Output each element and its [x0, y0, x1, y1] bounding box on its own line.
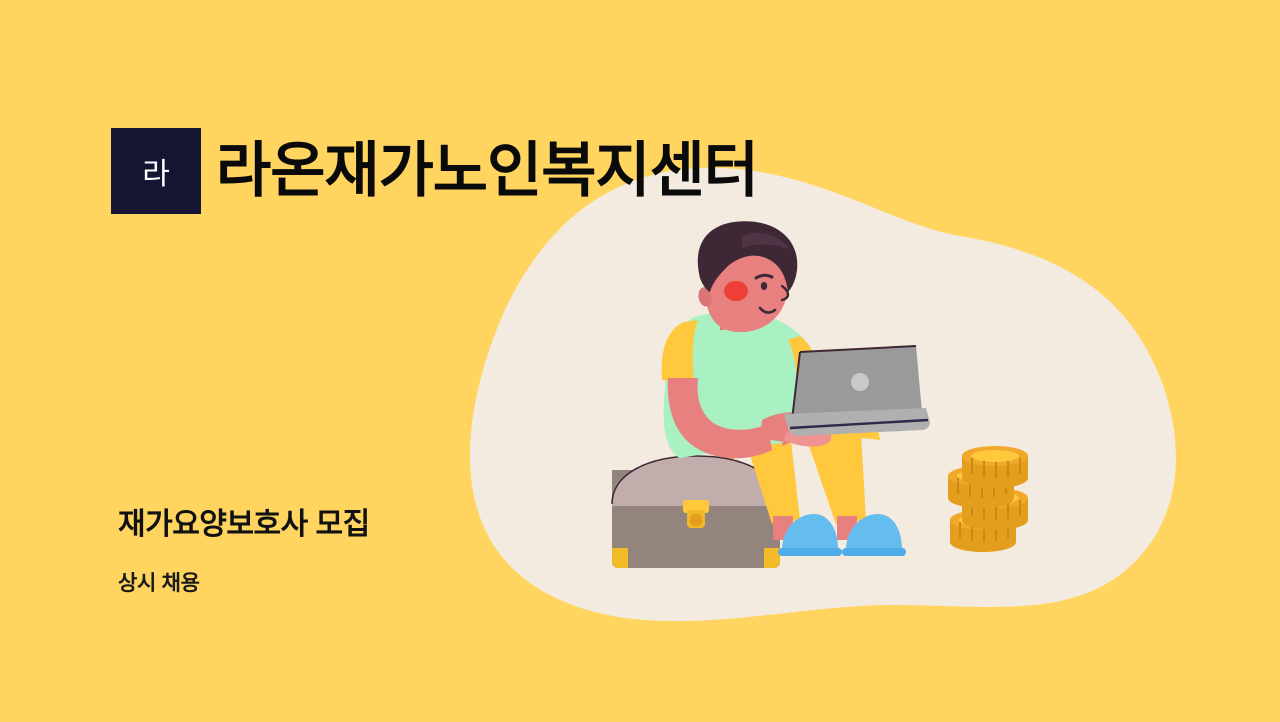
job-position-title: 재가요양보호사 모집 — [118, 505, 548, 545]
laptop-icon — [784, 346, 930, 436]
job-recruitment-banner: 라 라온재가노인복지센터 재가요양보호사 모집 상시 채용 — [0, 0, 1280, 722]
recruit-status-label: 상시 채용 — [118, 570, 548, 598]
company-logo-badge: 라 — [111, 128, 201, 214]
illustration-man-working-on-laptop — [0, 0, 1280, 722]
coin-stack-icon — [948, 446, 1028, 552]
person-head — [698, 221, 798, 332]
job-info-block: 재가요양보호사 모집 상시 채용 — [118, 505, 548, 598]
company-name-title: 라온재가노인복지센터 — [216, 128, 758, 214]
company-header: 라 라온재가노인복지센터 — [111, 128, 758, 214]
